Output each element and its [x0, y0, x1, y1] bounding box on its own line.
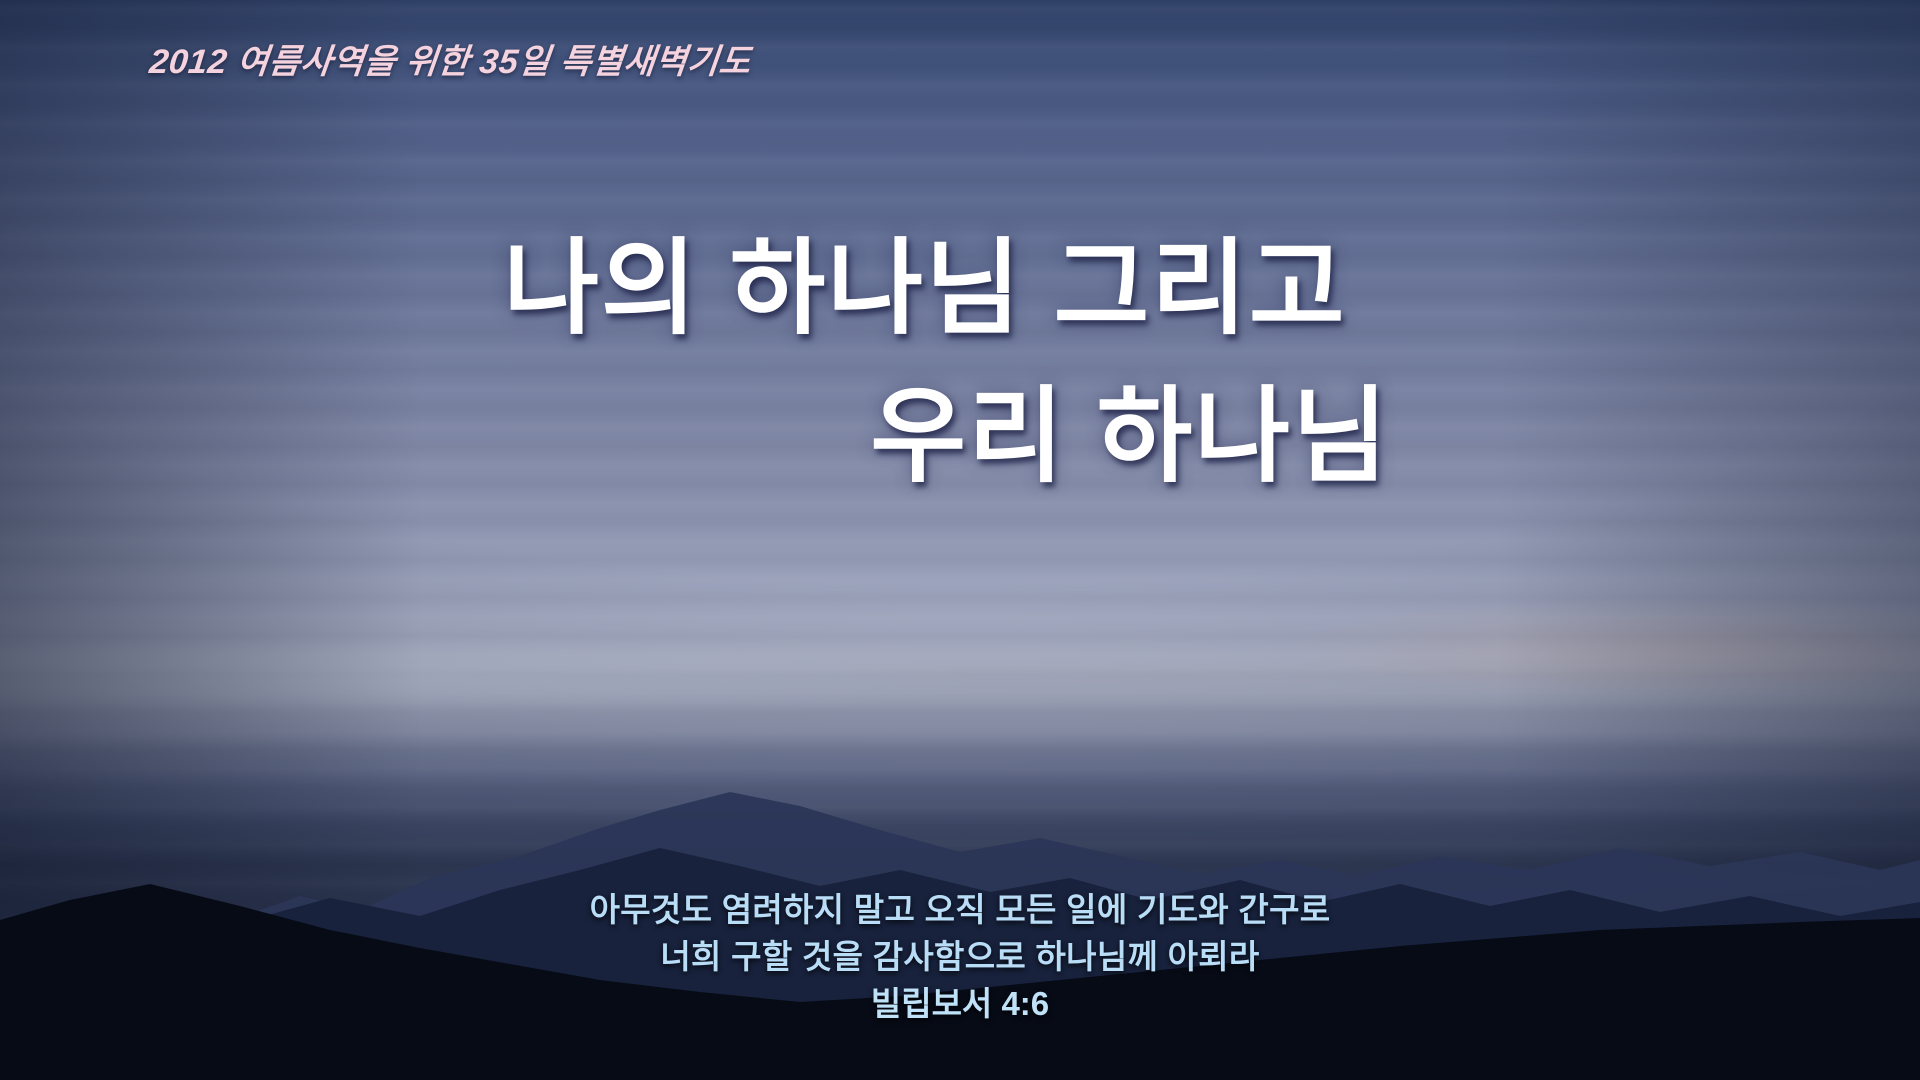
verse-line-1: 아무것도 염려하지 말고 오직 모든 일에 기도와 간구로: [0, 887, 1920, 934]
presentation-slide: 2012 여름사역을 위한 35일 특별새벽기도 나의 하나님 그리고 우리 하…: [0, 0, 1920, 1080]
scripture-verse-block: 아무것도 염려하지 말고 오직 모든 일에 기도와 간구로 너희 구할 것을 감…: [0, 887, 1920, 1028]
slide-header-caption: 2012 여름사역을 위한 35일 특별새벽기도: [147, 34, 753, 83]
verse-line-2: 너희 구할 것을 감사함으로 하나님께 아뢰라: [0, 934, 1920, 981]
verse-reference: 빌립보서 4:6: [0, 981, 1920, 1028]
